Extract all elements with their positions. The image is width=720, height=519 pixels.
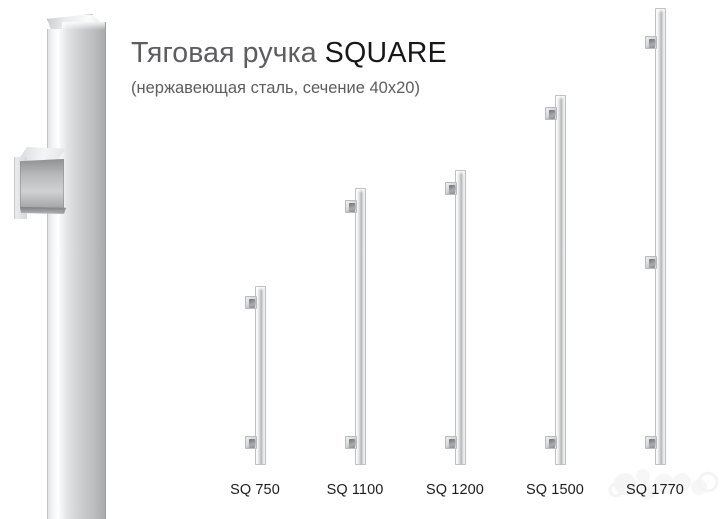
hero-handle-side-face: [47, 29, 63, 519]
handle-mount-bracket: [445, 436, 457, 449]
caption-sq-750: SQ 750: [225, 482, 285, 498]
handle-bar: [655, 8, 666, 465]
page-subtitle: (нержавеющая сталь, сечение 40x20): [131, 78, 551, 98]
handle-sq-1770: [645, 8, 669, 465]
handle-mount-bracket: [645, 256, 657, 269]
handle-mount-bracket: [345, 436, 357, 449]
caption-sq-1500: SQ 1500: [518, 482, 592, 498]
hero-handle-front-face: [62, 22, 106, 519]
handle-mount-bracket: [645, 36, 657, 49]
handle-bar: [455, 170, 466, 465]
handle-mount-bracket: [445, 182, 457, 195]
hero-handle-wall-bracket: [14, 147, 66, 220]
product-image-canvas: Тяговая ручка SQUARE (нержавеющая сталь,…: [0, 0, 720, 519]
handle-mount-bracket: [545, 107, 557, 120]
caption-sq-1200: SQ 1200: [418, 482, 492, 498]
page-title-en: SQUARE: [325, 37, 447, 69]
handle-mount-bracket: [345, 200, 357, 213]
title-block: Тяговая ручка SQUARE (нержавеющая сталь,…: [131, 36, 551, 98]
hero-handle: [0, 0, 130, 519]
handle-sq-750: [245, 286, 269, 465]
caption-sq-1100: SQ 1100: [318, 482, 392, 498]
handle-mount-bracket: [245, 296, 257, 309]
page-title-ru: Тяговая ручка: [131, 37, 325, 69]
handle-bar: [555, 95, 566, 465]
caption-sq-1770: SQ 1770: [618, 482, 692, 498]
handle-sq-1100: [345, 188, 369, 465]
handle-mount-bracket: [645, 436, 657, 449]
handle-mount-bracket: [245, 436, 257, 449]
handle-sq-1200: [445, 170, 469, 465]
page-title: Тяговая ручка SQUARE: [131, 36, 551, 70]
handle-mount-bracket: [545, 436, 557, 449]
handle-bar: [355, 188, 366, 465]
handle-sq-1500: [545, 95, 569, 465]
